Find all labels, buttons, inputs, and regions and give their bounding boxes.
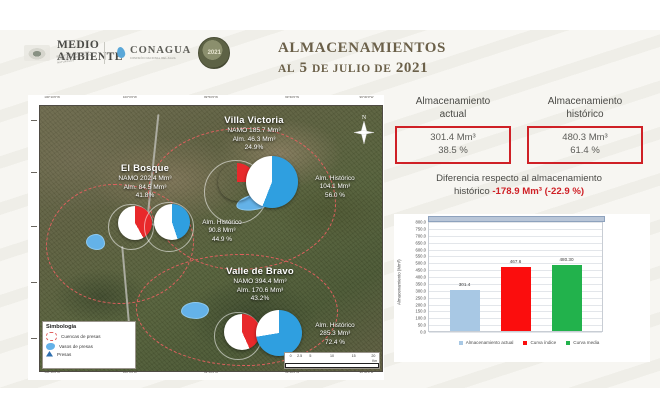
header: MEDIO AMBIENTE SECRETARÍA DE MEDIO AMBIE… [0,30,660,92]
chart-bar-0[interactable]: 301.4 [450,290,480,331]
dam-name-valle-de-bravo: Valle de Bravo [186,266,334,278]
chart-bar-fill-1 [501,267,531,331]
scalebar-bars [285,363,379,368]
water-drop-icon [116,46,126,60]
chart-bar-fill-0 [450,290,480,331]
scalebar-tick-2: 5 [309,354,311,358]
kpi-current-storage: Almacenamiento actual 301.4 Mm³ 38.5 % [395,96,511,164]
kpi-historic-caption: Almacenamiento histórico [527,96,643,121]
storage-bar-chart: Almacenamiento (Mm³) 800.0750.0700.0650.… [394,214,650,362]
chart-y-tick-5: 550.0 [416,254,426,259]
reservoir-icon [46,343,55,350]
chart-y-tick-1: 750.0 [416,226,426,231]
difference-line1: Diferencia respecto al almacenamiento [388,173,650,186]
svg-text:N: N [362,115,367,121]
difference-text: Diferencia respecto al almacenamiento hi… [388,173,650,199]
dam-namo-el-bosque: NAMO 202.4 Mm³ [80,175,210,183]
map-legend-label-basins: Cuencas de presas [61,334,101,339]
difference-value: -178.9 Mm³ (-22.9 %) [492,186,584,197]
mexico-eagle-icon [24,45,50,61]
kpi-historic-value: 480.3 Mm³ [531,132,639,145]
historic-pct-valle-de-bravo: 72.4 % [298,339,372,347]
dam-label-valle-de-bravo: Valle de Bravo NAMO 394.4 Mm³ Alm. 170.6… [186,266,334,303]
kpi-historic-box: 480.3 Mm³ 61.4 % [527,126,643,164]
map-tick-top-1: 100°0'0"W [123,95,137,99]
logo-conagua-sub: COMISIÓN NACIONAL DEL AGUA [130,57,191,60]
chart-bar-label-2: 480.30 [559,257,573,262]
chart-y-tick-labels: 800.0750.0700.0650.0600.0550.0500.0450.0… [404,222,426,332]
compass-rose-icon: N [352,112,376,146]
logo-conagua: CONAGUA COMISIÓN NACIONAL DEL AGUA [116,46,191,60]
chart-bar-label-0: 301.4 [459,282,471,287]
chart-legend-swatch-1 [523,341,527,345]
scalebar-ticks: 0 2.5 5 10 15 20 [287,354,377,360]
dam-alm-el-bosque: Alm. 84.5 Mm³ [80,184,210,192]
chart-y-tick-12: 200.0 [416,302,426,307]
chart-legend: Almacenamiento actualCurva índiceCurva m… [414,340,644,345]
satellite-map[interactable]: Villa Victoria NAMO 185.7 Mm³ Alm. 46.3 … [39,105,383,372]
chart-legend-label-0: Almacenamiento actual [466,340,514,345]
dam-alm-villa-victoria: Alm. 46.3 Mm³ [184,136,324,144]
map-legend-item-basins: Cuencas de presas [46,332,132,341]
chart-legend-swatch-0 [459,341,463,345]
reservoir-el-bosque [86,234,105,250]
logo-medio-ambiente: MEDIO AMBIENTE SECRETARÍA DE MEDIO AMBIE… [57,39,93,67]
chart-bar-1[interactable]: 467.6 [501,267,531,331]
scalebar-tick-0: 0 [290,354,292,358]
scalebar-tick-5: 20 [371,354,375,358]
dam-label-el-bosque: El Bosque NAMO 202.4 Mm³ Alm. 84.5 Mm³ 4… [80,163,210,200]
chart-bar-label-1: 467.6 [510,259,522,264]
map-tick-top-4: 99°30'0"W [359,95,373,99]
chart-y-tick-15: 50.0 [418,323,426,328]
kpi-current-box: 301.4 Mm³ 38.5 % [395,126,511,164]
difference-line2: histórico -178.9 Mm³ (-22.9 %) [388,186,650,199]
chart-legend-swatch-2 [566,341,570,345]
page-title-line2: AL 5 DE JULIO DE 2021 [278,58,446,78]
kpi-historic-storage: Almacenamiento histórico 480.3 Mm³ 61.4 … [527,96,643,164]
historic-value-valle-de-bravo: 285.3 Mm³ [298,330,372,338]
kpi-historic-pct: 61.4 % [531,145,639,158]
slide: MEDIO AMBIENTE SECRETARÍA DE MEDIO AMBIE… [0,0,660,417]
dam-pct-el-bosque: 41.8% [80,192,210,200]
chart-legend-label-2: Curva media [573,340,599,345]
dam-pct-valle-de-bravo: 43.2% [186,295,334,303]
chart-y-tick-6: 500.0 [416,261,426,266]
title-year: 2021 [396,60,428,76]
kpi-current-caption-line2: actual [395,109,511,122]
chart-y-tick-3: 650.0 [416,240,426,245]
kpi-current-caption: Almacenamiento actual [395,96,511,121]
difference-prefix: histórico [454,186,490,197]
scalebar-tick-1: 2.5 [297,354,302,358]
title-al: AL [278,63,295,75]
chart-y-tick-16: 0.0 [420,330,426,335]
chart-y-tick-0: 800.0 [416,220,426,225]
title-day: 5 [300,60,308,76]
chart-bars: 301.4467.6480.30 [429,222,602,331]
chart-y-tick-14: 100.0 [416,316,426,321]
page-title: ALMACENAMIENTOS AL 5 DE JULIO DE 2021 [278,38,446,79]
chart-y-tick-11: 250.0 [416,295,426,300]
page-title-line1: ALMACENAMIENTOS [278,38,446,58]
summary-panel: Almacenamiento actual 301.4 Mm³ 38.5 % A… [388,96,650,380]
dam-historic-villa-victoria: Alm. Histórico 104.1 Mm³ 56.0 % [298,175,372,200]
scalebar-tick-3: 10 [330,354,334,358]
map-tick-top-2: 99°50'0"W [204,95,218,99]
dam-icon [46,351,53,358]
map-ticks-top: 100°10'0"W 100°0'0"W 99°50'0"W 99°40'0"W… [42,95,380,105]
seal-year: 2021 [208,50,221,56]
map-legend-item-reservoirs: Vasos de presas [46,343,132,350]
map-panel: 100°10'0"W 100°0'0"W 99°50'0"W 99°40'0"W… [28,95,384,380]
bottom-letterbox [0,388,660,417]
chart-y-tick-8: 400.0 [416,275,426,280]
kpi-current-value: 301.4 Mm³ [399,132,507,145]
chart-y-tick-13: 150.0 [416,309,426,314]
kpi-current-caption-line1: Almacenamiento [395,96,511,109]
dam-name-el-bosque: El Bosque [80,163,210,175]
map-legend-title: Simbología [46,324,132,330]
map-tick-top-3: 99°40'0"W [285,95,299,99]
map-legend-label-reservoirs: Vasos de presas [59,344,93,349]
historic-value-el-bosque: 90.8 Mm³ [186,227,258,235]
chart-y-tick-9: 350.0 [416,281,426,286]
pie-current-valle-de-bravo [224,314,260,350]
historic-pct-el-bosque: 44.9 % [186,236,258,244]
map-scalebar: 0 2.5 5 10 15 20 Km [284,352,380,369]
chart-y-tick-2: 700.0 [416,233,426,238]
map-tick-top-0: 100°10'0"W [44,95,60,99]
pie-historic-el-bosque [154,204,190,240]
scalebar-tick-4: 15 [352,354,356,358]
chart-y-tick-4: 600.0 [416,247,426,252]
logo-divider [104,42,105,64]
dam-alm-valle-de-bravo: Alm. 170.6 Mm³ [186,287,334,295]
map-legend: Simbología Cuencas de presas Vasos de pr… [42,321,136,369]
dam-name-villa-victoria: Villa Victoria [184,115,324,127]
pie-historic-villa-victoria [246,156,298,208]
chart-y-tick-7: 450.0 [416,268,426,273]
dam-namo-villa-victoria: NAMO 185.7 Mm³ [184,127,324,135]
logo-medio-ambiente-name: MEDIO AMBIENTE [57,39,74,53]
dam-historic-valle-de-bravo: Alm. Histórico 285.3 Mm³ 72.4 % [298,322,372,347]
chart-y-axis-title: Almacenamiento (Mm³) [394,232,404,332]
kpi-row: Almacenamiento actual 301.4 Mm³ 38.5 % A… [388,96,650,164]
chart-gridline-16 [429,332,602,333]
dam-pct-villa-victoria: 24.9% [184,144,324,152]
kpi-current-pct: 38.5 % [399,145,507,158]
dam-label-villa-victoria: Villa Victoria NAMO 185.7 Mm³ Alm. 46.3 … [184,115,324,152]
pie-historic-valle-de-bravo [256,310,302,356]
kpi-historic-caption-line2: histórico [527,109,643,122]
dam-historic-el-bosque: Alm. Histórico 90.8 Mm³ 44.9 % [186,219,258,244]
chart-plot-area: 301.4467.6480.30 [428,222,603,332]
historic-pct-villa-victoria: 56.0 % [298,192,372,200]
basin-outline-icon [46,332,57,341]
chart-legend-label-1: Curva índice [530,340,556,345]
chart-bar-2[interactable]: 480.30 [552,265,582,331]
logo-conagua-name: CONAGUA [130,46,191,57]
kpi-historic-caption-line1: Almacenamiento [527,96,643,109]
map-legend-item-dams: Presas [46,351,132,358]
chart-legend-item-0[interactable]: Almacenamiento actual [459,340,514,345]
chart-legend-item-2[interactable]: Curva media [566,340,599,345]
historic-value-villa-victoria: 104.1 Mm³ [298,183,372,191]
map-legend-label-dams: Presas [57,352,71,357]
chart-bar-fill-2 [552,265,582,331]
top-letterbox [0,0,660,30]
chart-y-tick-10: 300.0 [416,288,426,293]
dam-namo-valle-de-bravo: NAMO 394.4 Mm³ [186,278,334,286]
logo-group: MEDIO AMBIENTE SECRETARÍA DE MEDIO AMBIE… [24,37,230,69]
reservoir-valle-de-bravo [181,302,209,319]
chart-legend-item-1[interactable]: Curva índice [523,340,556,345]
anniversary-seal-icon: 2021 [198,37,230,69]
title-month: DE JULIO DE [312,63,391,75]
